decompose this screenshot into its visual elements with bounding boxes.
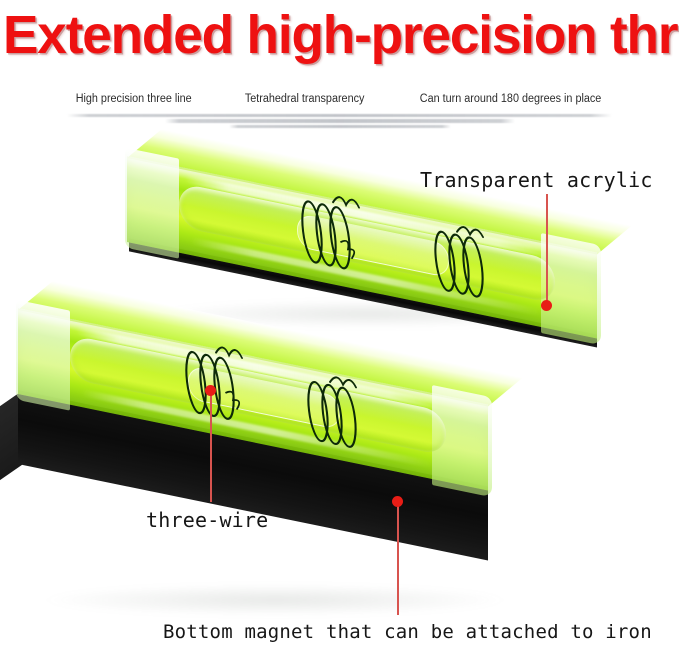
title-banner: Extended high-precision three line <box>0 0 679 78</box>
product-image-page: Extended high-precision three line High … <box>0 0 679 656</box>
feature-item-1: Tetrahedral transparency <box>245 92 365 106</box>
fine-print-line <box>165 119 515 122</box>
upper-left-end-cap <box>125 148 179 259</box>
feature-item-2: Can turn around 180 degrees in place <box>420 92 602 106</box>
callout-dot-wire <box>205 385 216 396</box>
callout-leader-line-magnet <box>397 503 399 615</box>
upper-level-unit <box>127 138 597 256</box>
lower-left-end-cap <box>16 300 70 411</box>
callout-dot-magnet <box>392 496 403 507</box>
page-title: Extended high-precision three line <box>3 2 669 68</box>
fine-print-block <box>0 114 679 130</box>
callout-leader-line-acrylic <box>546 194 548 306</box>
callout-label-transparent-acrylic: Transparent acrylic <box>420 168 653 192</box>
lower-level-unit <box>18 290 488 408</box>
callout-label-three-wire: three-wire <box>146 508 268 532</box>
callout-dot-acrylic <box>541 300 552 311</box>
lower-unit-shadow <box>40 584 510 616</box>
fine-print-line <box>229 125 451 128</box>
product-stage <box>0 132 679 632</box>
fine-print-line <box>67 114 612 117</box>
callout-leader-line-wire <box>210 392 212 502</box>
callout-label-bottom-magnet: Bottom magnet that can be attached to ir… <box>163 620 652 644</box>
feature-item-0: High precision three line <box>75 92 191 106</box>
feature-list: High precision three line Tetrahedral tr… <box>0 88 679 110</box>
